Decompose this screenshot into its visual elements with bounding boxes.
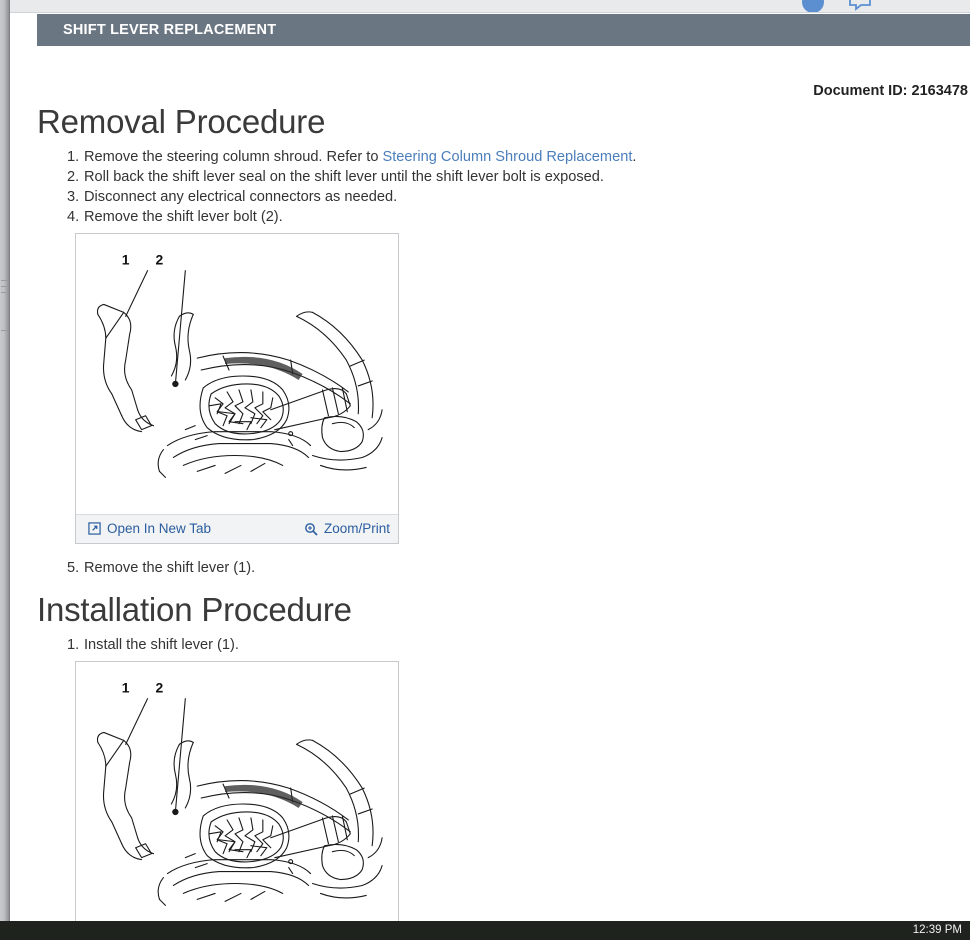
svg-text:2: 2 xyxy=(156,252,164,268)
step-number: 4. xyxy=(67,207,79,227)
svg-text:2: 2 xyxy=(156,680,164,696)
link-steering-column-shroud-replacement[interactable]: Steering Column Shroud Replacement xyxy=(383,149,633,165)
section-heading-removal: Removal Procedure xyxy=(37,103,957,141)
step-number: 3. xyxy=(67,187,79,207)
taskbar-clock[interactable]: 12:39 PM xyxy=(913,924,962,936)
figure-toolbar: Open In New Tab Zoom/Print xyxy=(76,514,398,543)
page-title: SHIFT LEVER REPLACEMENT xyxy=(37,22,276,38)
list-item: 3.Disconnect any electrical connectors a… xyxy=(67,187,957,207)
section-heading-installation: Installation Procedure xyxy=(37,591,957,629)
app-screen: SHIFT LEVER REPLACEMENT Document ID: 216… xyxy=(0,0,970,940)
magnifier-plus-icon xyxy=(304,522,318,536)
figure-image-shift-lever-assembly: 1 2 xyxy=(76,234,398,514)
zoom-print-label: Zoom/Print xyxy=(324,521,390,536)
left-collapsed-rail[interactable] xyxy=(0,0,10,921)
step-list-removal-continued: 5.Remove the shift lever (1). xyxy=(67,558,957,578)
step-list-installation: 1.Install the shift lever (1). xyxy=(67,635,957,655)
svg-text:1: 1 xyxy=(122,252,130,268)
zoom-print-button[interactable]: Zoom/Print xyxy=(304,521,398,536)
step-number: 2. xyxy=(67,167,79,187)
step-list-removal: 1.Remove the steering column shroud. Ref… xyxy=(67,147,957,227)
open-in-new-tab-icon xyxy=(88,522,101,535)
page-title-bar: SHIFT LEVER REPLACEMENT xyxy=(37,14,970,46)
list-item: 1.Install the shift lever (1). xyxy=(67,635,957,655)
open-in-new-tab-label: Open In New Tab xyxy=(107,521,211,536)
step-text: Roll back the shift lever seal on the sh… xyxy=(84,169,604,185)
document-content: Removal Procedure 1.Remove the steering … xyxy=(37,103,957,921)
open-in-new-tab-button[interactable]: Open In New Tab xyxy=(76,521,211,536)
step-text: Install the shift lever (1). xyxy=(84,637,239,653)
list-item: 2.Roll back the shift lever seal on the … xyxy=(67,167,957,187)
note-comment-icon[interactable] xyxy=(848,0,872,11)
step-text: Remove the steering column shroud. Refer… xyxy=(84,149,383,165)
step-number: 1. xyxy=(67,147,79,167)
figure-shift-lever-removal: 1 2 Open In New Tab xyxy=(75,233,399,544)
list-item: 4.Remove the shift lever bolt (2). xyxy=(67,207,957,227)
step-text: Remove the shift lever bolt (2). xyxy=(84,209,283,225)
step-text: Remove the shift lever (1). xyxy=(84,560,255,576)
figure-shift-lever-installation: 1 2 Open In New Tab xyxy=(75,661,399,921)
document-id-label: Document ID: 2163478 xyxy=(813,83,968,99)
step-text-tail: . xyxy=(632,149,636,165)
step-number: 1. xyxy=(67,635,79,655)
top-chrome-strip xyxy=(0,0,970,13)
step-text: Disconnect any electrical connectors as … xyxy=(84,189,397,205)
figure-image-shift-lever-assembly: 1 2 xyxy=(76,662,398,921)
step-number: 5. xyxy=(67,558,79,578)
document-viewer: SHIFT LEVER REPLACEMENT Document ID: 216… xyxy=(11,13,970,921)
user-avatar-icon[interactable] xyxy=(802,0,824,13)
svg-text:1: 1 xyxy=(122,680,130,696)
os-taskbar: 12:39 PM xyxy=(0,921,970,940)
list-item: 1.Remove the steering column shroud. Ref… xyxy=(67,147,957,167)
list-item: 5.Remove the shift lever (1). xyxy=(67,558,957,578)
